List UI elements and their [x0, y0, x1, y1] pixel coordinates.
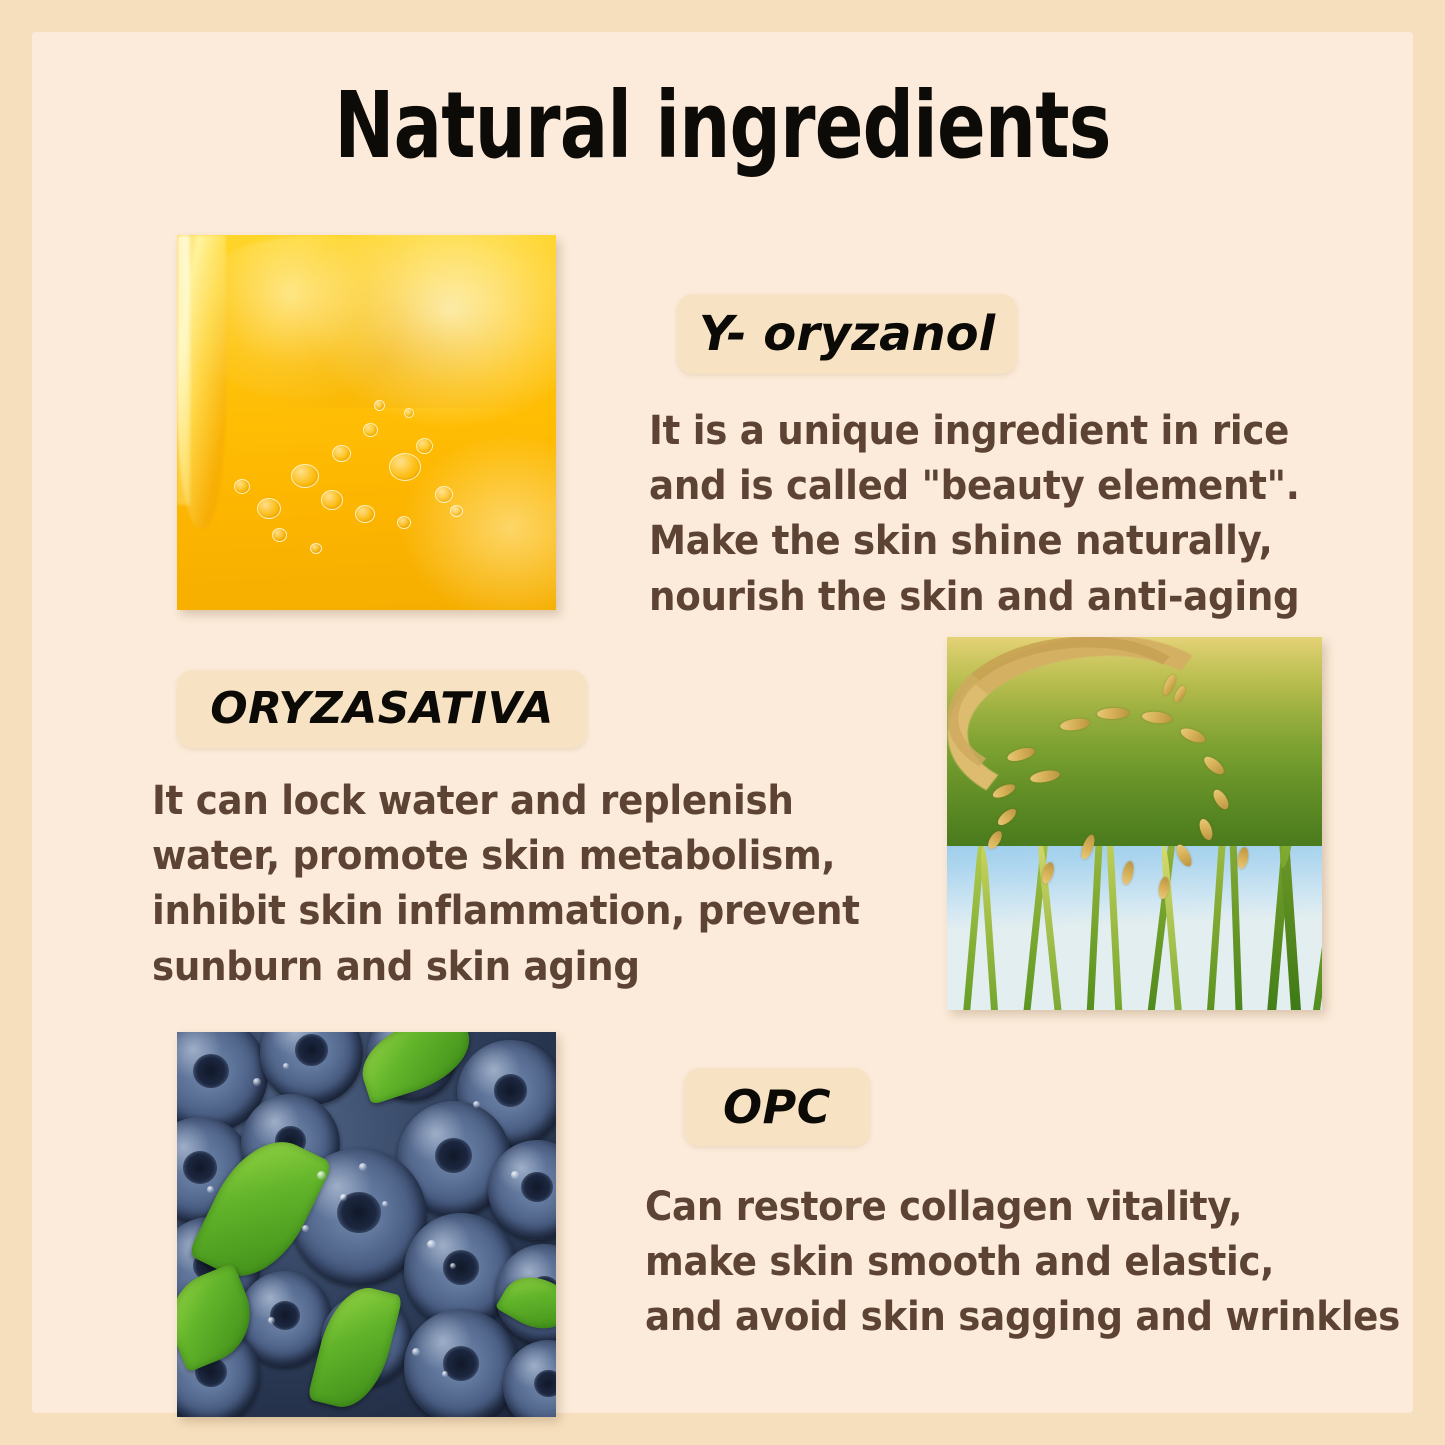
ingredients-poster: Natural ingredients: [0, 0, 1445, 1445]
description-line: nourish the skin and anti-aging: [649, 570, 1356, 625]
oryzanol-oil-photo: [177, 235, 556, 610]
ingredient-label-oryzanol: Y- oryzanol: [677, 294, 1017, 374]
description-line: and avoid skin sagging and wrinkles: [645, 1290, 1417, 1345]
ingredient-label-text: OPC: [723, 1084, 831, 1130]
ingredient-label-opc: OPC: [684, 1068, 870, 1146]
ingredient-description-oryzanol: It is a unique ingredient in rice and is…: [649, 404, 1356, 625]
poster-inner-panel: Natural ingredients: [32, 32, 1413, 1413]
ingredient-label-text: ORYZASATIVA: [210, 687, 554, 731]
oryzasativa-rice-photo: [947, 637, 1322, 1010]
opc-blueberry-photo: [177, 1032, 556, 1417]
description-line: It is a unique ingredient in rice: [649, 404, 1356, 459]
ingredient-description-oryzasativa: It can lock water and replenish water, p…: [152, 774, 887, 995]
ingredient-description-opc: Can restore collagen vitality, make skin…: [645, 1180, 1417, 1346]
page-title: Natural ingredients: [184, 80, 1261, 172]
ingredient-label-text: Y- oryzanol: [699, 310, 995, 358]
description-line: make skin smooth and elastic,: [645, 1235, 1417, 1290]
description-line: inhibit skin inflammation, prevent: [152, 884, 887, 939]
description-line: water, promote skin metabolism,: [152, 829, 887, 884]
description-line: sunburn and skin aging: [152, 940, 887, 995]
description-line: and is called "beauty element".: [649, 459, 1356, 514]
description-line: Make the skin shine naturally,: [649, 514, 1356, 569]
ingredient-label-oryzasativa: ORYZASATIVA: [177, 670, 587, 748]
description-line: Can restore collagen vitality,: [645, 1180, 1417, 1235]
description-line: It can lock water and replenish: [152, 774, 887, 829]
